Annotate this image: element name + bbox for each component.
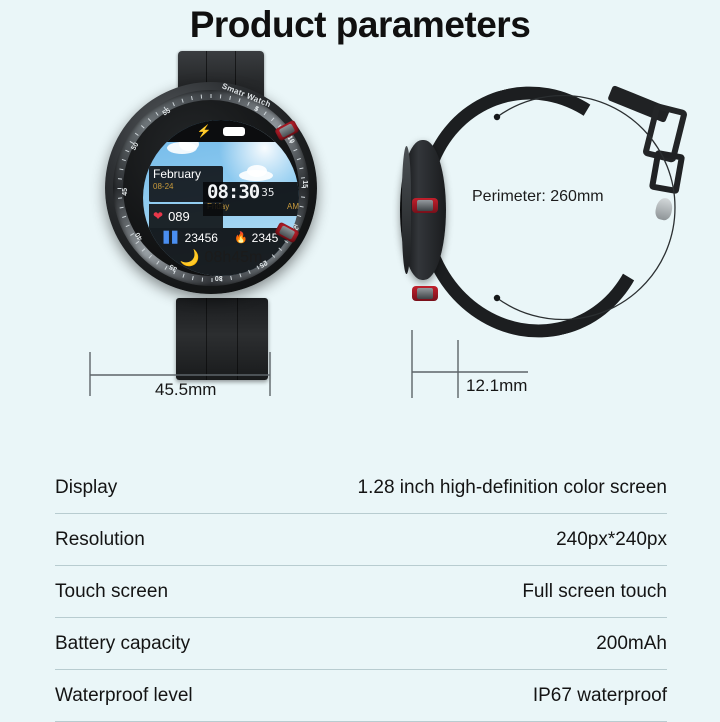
specifications-table: Display1.28 inch high-definition color s… <box>55 462 667 722</box>
spec-row: Waterproof levelIP67 waterproof <box>55 670 667 722</box>
watch-time: 08:30 <box>207 183 259 202</box>
cloud-shape <box>247 165 267 177</box>
bezel-tick <box>300 206 304 208</box>
bezel-tick <box>120 207 124 209</box>
page-title: Product parameters <box>0 4 720 46</box>
bezel-tick <box>247 102 250 106</box>
bezel-tick <box>125 150 129 153</box>
spec-key: Display <box>55 477 117 499</box>
spec-value: 240px*240px <box>556 529 667 551</box>
watch-seconds: 35 <box>261 183 274 203</box>
bezel-tick <box>299 167 303 169</box>
bezel-number: 5 <box>253 106 260 114</box>
watch-bezel-inner: ⚡ February 08-24 08:30 35 Friday <box>123 100 299 276</box>
bezel-tick <box>118 188 122 189</box>
bezel-tick <box>191 96 193 100</box>
bezel-tick <box>192 276 194 280</box>
bezel-tick <box>126 225 130 228</box>
bezel-tick <box>155 112 158 116</box>
bezel-tick <box>212 278 213 282</box>
watch-sleep: 08h45m <box>205 249 263 267</box>
watch-strap-bottom <box>176 298 268 380</box>
bezel-tick <box>264 111 267 115</box>
spec-row: Display1.28 inch high-definition color s… <box>55 462 667 514</box>
spec-key: Battery capacity <box>55 633 190 655</box>
heart-icon: ❤ <box>153 210 163 222</box>
watch-heartrate-panel: ❤ 089 <box>149 204 223 228</box>
watch-steps: 23456 <box>185 231 218 245</box>
bezel-tick <box>119 168 123 170</box>
bezel-tick <box>229 96 231 100</box>
watch-month: February <box>153 168 219 181</box>
product-illustration: ⚡ February 08-24 08:30 35 Friday <box>0 48 720 448</box>
spec-row: Touch screenFull screen touch <box>55 566 667 618</box>
footsteps-icon: ▋▋ <box>164 233 181 244</box>
watch-calories-stat: 🔥 2345 <box>234 231 278 245</box>
bezel-tick <box>122 216 126 218</box>
watch-bezel: ⚡ February 08-24 08:30 35 Friday <box>113 90 309 286</box>
bezel-tick <box>301 177 305 178</box>
crown-button-side-top[interactable] <box>412 198 438 213</box>
bezel-tick <box>211 94 212 98</box>
spec-key: Waterproof level <box>55 685 193 707</box>
spec-value: 200mAh <box>596 633 667 655</box>
bezel-tick <box>301 196 305 197</box>
watch-stats-panel: ▋▋ 23456 🔥 2345 🌙 08h45m <box>143 228 299 276</box>
watch-sleep-stat: 🌙 08h45m <box>143 245 299 268</box>
bezel-tick <box>220 94 221 98</box>
watch-glass-edge <box>402 146 411 274</box>
watch-buckle-secondary <box>649 150 685 195</box>
bezel-tick <box>122 159 126 161</box>
bezel-number: 45 <box>122 188 129 196</box>
bezel-tick <box>230 276 232 280</box>
battery-icon <box>223 127 245 136</box>
flame-icon: 🔥 <box>234 233 248 244</box>
crown-button-side-bottom[interactable] <box>412 286 438 301</box>
watch-heartrate: 089 <box>168 209 190 224</box>
bezel-tick <box>172 102 175 106</box>
watch-status-bar: ⚡ <box>161 120 281 142</box>
bezel-number: 30 <box>215 274 223 281</box>
bezel-tick <box>135 133 139 136</box>
bolt-icon: ⚡ <box>197 125 212 137</box>
watch-case: ⚡ February 08-24 08:30 35 Friday <box>105 82 317 294</box>
spec-key: Resolution <box>55 529 145 551</box>
bezel-tick <box>202 278 203 282</box>
dimension-label-width: 45.5mm <box>155 380 216 400</box>
spec-value: IP67 waterproof <box>533 685 667 707</box>
smartwatch-front-view: ⚡ February 08-24 08:30 35 Friday <box>80 48 340 378</box>
bezel-tick <box>238 98 240 102</box>
spec-row: Resolution240px*240px <box>55 514 667 566</box>
bezel-tick <box>118 178 122 179</box>
perimeter-label: Perimeter: 260mm <box>472 188 604 206</box>
watch-steps-stat: ▋▋ 23456 <box>164 231 218 245</box>
smartwatch-side-view: Perimeter: 260mm <box>390 48 690 378</box>
watch-meridiem: AM <box>287 202 299 211</box>
bezel-number: 15 <box>301 180 308 188</box>
dimension-label-thickness: 12.1mm <box>466 376 527 396</box>
bezel-tick <box>201 95 202 99</box>
spec-value: Full screen touch <box>522 581 667 603</box>
spec-value: 1.28 inch high-definition color screen <box>358 477 667 499</box>
bezel-tick <box>118 197 122 198</box>
moon-icon: 🌙 <box>180 248 200 268</box>
watch-screen: ⚡ February 08-24 08:30 35 Friday <box>143 120 299 276</box>
bezel-tick <box>182 99 184 103</box>
watch-buckle-tip <box>654 197 674 222</box>
spec-row: Battery capacity200mAh <box>55 618 667 670</box>
spec-key: Touch screen <box>55 581 168 603</box>
